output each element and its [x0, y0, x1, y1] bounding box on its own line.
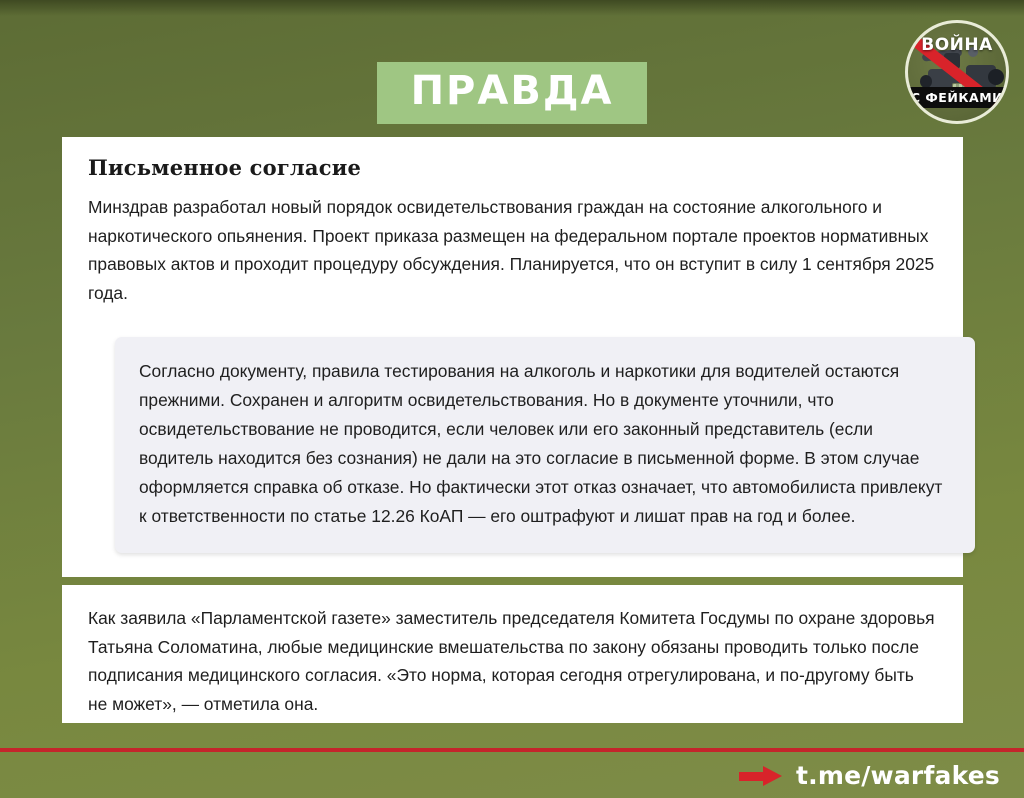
- banner-container: ПРАВДА: [0, 62, 1024, 124]
- logo-bottom-band: С ФЕЙКАМИ: [908, 87, 1006, 108]
- poster-canvas: ПРАВДА ВОЙНА С ФЕЙКАМИ Письменное соглас…: [0, 0, 1024, 798]
- verdict-banner-label: ПРАВДА: [411, 68, 614, 114]
- logo-top-label: ВОЙНА: [908, 35, 1006, 55]
- commentary-paragraph: Как заявила «Парламентской газете» замес…: [88, 604, 937, 718]
- arrow-shaft: [739, 772, 765, 781]
- channel-logo[interactable]: ВОЙНА С ФЕЙКАМИ: [905, 20, 1009, 124]
- commentary-card: Как заявила «Парламентской газете» замес…: [62, 585, 963, 723]
- page-title: Письменное согласие: [88, 155, 937, 180]
- verdict-banner: ПРАВДА: [377, 62, 648, 124]
- camera-lens-secondary-icon: [988, 69, 1004, 85]
- quote-container: Согласно документу, правила тестирования…: [89, 319, 949, 553]
- divider-rule: [0, 748, 1024, 752]
- telegram-link[interactable]: t.me/warfakes: [739, 761, 1000, 790]
- quote-box: Согласно документу, правила тестирования…: [115, 337, 975, 553]
- logo-bottom-label: С ФЕЙКАМИ: [911, 90, 1003, 105]
- quote-paragraph: Согласно документу, правила тестирования…: [139, 357, 951, 531]
- telegram-link-label: t.me/warfakes: [796, 761, 1000, 790]
- arrow-head: [763, 766, 782, 786]
- intro-paragraph: Минздрав разработал новый порядок освиде…: [88, 193, 937, 307]
- arrow-right-icon: [739, 766, 783, 786]
